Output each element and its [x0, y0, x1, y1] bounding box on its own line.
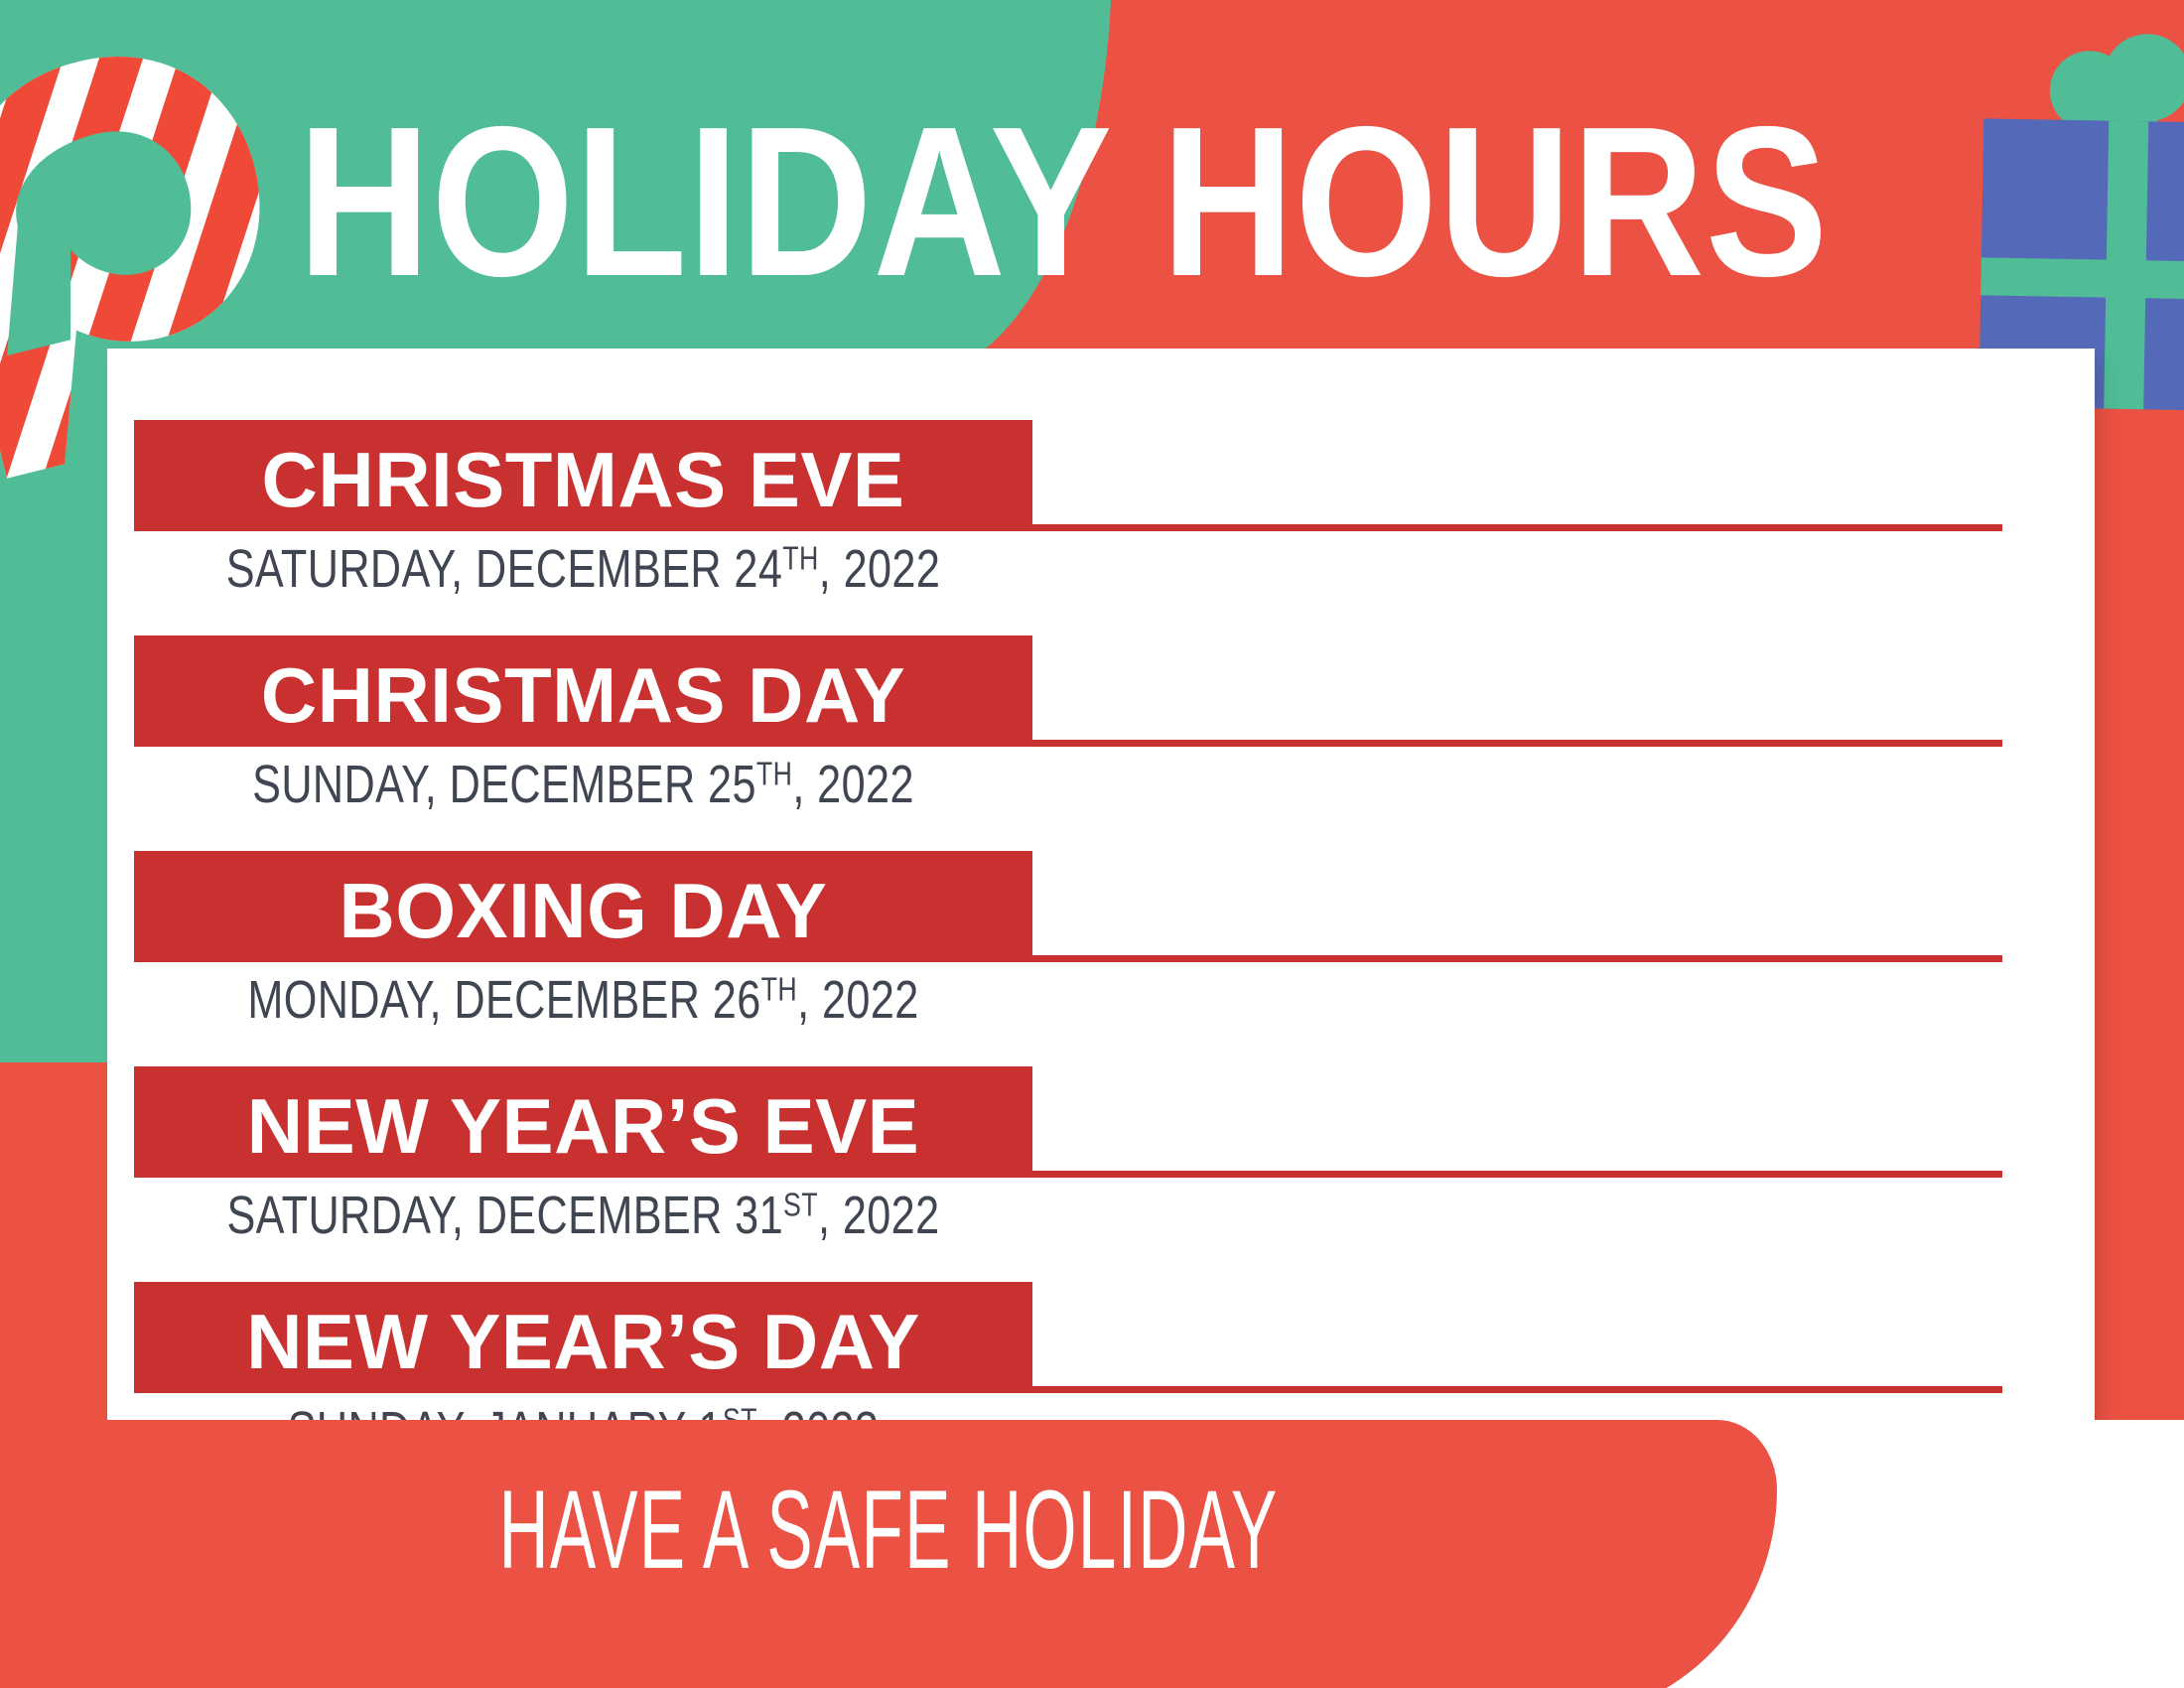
schedule-card: CHRISTMAS EVE SATURDAY, DECEMBER 24TH, 2…	[107, 349, 2095, 1424]
holiday-date-weekday: SATURDAY, DECEMBER 24	[226, 539, 783, 599]
holiday-date: SATURDAY, DECEMBER 31ST, 2022	[224, 1188, 943, 1244]
schedule-row: NEW YEAR’S EVE SATURDAY, DECEMBER 31ST, …	[107, 1066, 2095, 1282]
holiday-date-weekday: SUNDAY, DECEMBER 25	[252, 755, 756, 814]
schedule-row: BOXING DAY MONDAY, DECEMBER 26TH, 2022	[107, 851, 2095, 1066]
holiday-date-year: , 2022	[797, 970, 919, 1030]
holiday-name: BOXING DAY	[134, 857, 1032, 968]
page-title: HOLIDAY HOURS	[298, 94, 1829, 308]
holiday-date-weekday: MONDAY, DECEMBER 26	[247, 970, 760, 1030]
holiday-date-weekday: SATURDAY, DECEMBER 31	[226, 1186, 783, 1245]
holiday-name: NEW YEAR’S DAY	[134, 1288, 1032, 1399]
holiday-date-ordinal: TH	[761, 972, 798, 1009]
holiday-date-ordinal: TH	[756, 757, 793, 793]
holiday-date-year: , 2022	[792, 755, 914, 814]
holiday-date: MONDAY, DECEMBER 26TH, 2022	[224, 972, 943, 1029]
holiday-date-ordinal: ST	[783, 1188, 818, 1224]
holiday-hours-poster: HOLIDAY HOURS CHRISTMAS EVE SATURDAY, DE…	[0, 0, 2184, 1688]
schedule-row: CHRISTMAS DAY SUNDAY, DECEMBER 25TH, 202…	[107, 635, 2095, 851]
hours-write-in-rule[interactable]	[1032, 524, 2002, 531]
holiday-name: CHRISTMAS DAY	[134, 641, 1032, 753]
hours-write-in-rule[interactable]	[1032, 1386, 2002, 1393]
holiday-name: CHRISTMAS EVE	[134, 426, 1032, 537]
holiday-date-ordinal: TH	[782, 541, 819, 578]
holiday-date: SATURDAY, DECEMBER 24TH, 2022	[224, 541, 943, 598]
schedule-row: CHRISTMAS EVE SATURDAY, DECEMBER 24TH, 2…	[107, 420, 2095, 635]
holiday-name: NEW YEAR’S EVE	[134, 1072, 1032, 1184]
footer-message: HAVE A SAFE HOLIDAY	[338, 1475, 1439, 1586]
hours-write-in-rule[interactable]	[1032, 955, 2002, 962]
holiday-date-year: , 2022	[819, 539, 941, 599]
holiday-date: SUNDAY, DECEMBER 25TH, 2022	[224, 757, 943, 813]
hours-write-in-rule[interactable]	[1032, 740, 2002, 747]
hours-write-in-rule[interactable]	[1032, 1171, 2002, 1178]
holiday-date-year: , 2022	[818, 1186, 940, 1245]
